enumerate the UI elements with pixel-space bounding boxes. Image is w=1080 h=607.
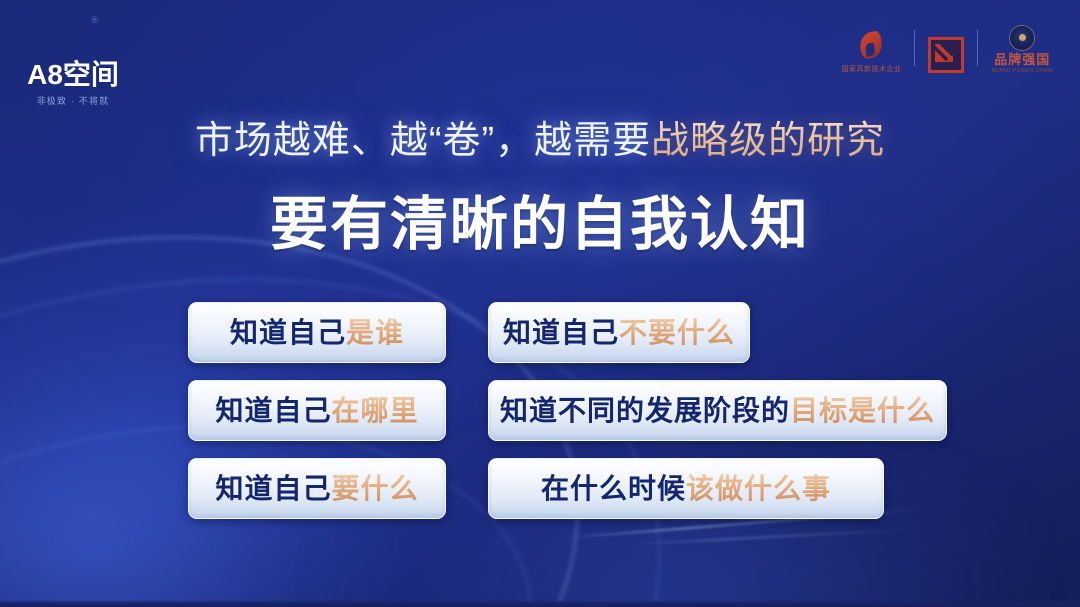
- pen-nib-icon: ®: [58, 18, 88, 58]
- badge-brand-power: 品牌强国 BRAND POWER CHINA: [978, 22, 1066, 74]
- pill-row: 知道自己在哪里 知道不同的发展阶段的目标是什么: [188, 380, 958, 441]
- brand-tagline: 非极致 · 不将就: [14, 94, 132, 107]
- subheadline-highlight: 战略级的研究: [651, 120, 885, 162]
- pill-text-plain: 知道自己: [215, 396, 331, 426]
- flame-icon: [860, 29, 882, 61]
- pill-row: 知道自己要什么 在什么时候该做什么事: [188, 458, 958, 519]
- subheadline-plain: 市场越难、越“卷”，越需要: [195, 120, 651, 162]
- pill-row: 知道自己是谁 知道自己不要什么: [188, 302, 958, 363]
- certification-badges: 国家高新技术企业 品牌强国 BRAND POWER CHINA: [828, 22, 1066, 74]
- badge-red-seal: [915, 22, 977, 74]
- bottom-edge-shadow: [0, 600, 1080, 607]
- pill-text-highlight: 不要什么: [619, 318, 735, 348]
- badge-label: 品牌强国: [994, 53, 1050, 67]
- pill-text-plain: 知道不同的发展阶段的: [500, 396, 790, 426]
- pill-text-plain: 知道自己: [503, 318, 619, 348]
- subheadline: 市场越难、越“卷”，越需要战略级的研究: [0, 116, 1080, 166]
- pill-know-what-you-want[interactable]: 知道自己要什么: [188, 458, 446, 519]
- pill-text-highlight: 在哪里: [332, 396, 419, 426]
- pill-text-highlight: 目标是什么: [790, 396, 935, 426]
- pill-text-plain: 知道自己: [215, 474, 331, 504]
- badge-sublabel: BRAND POWER CHINA: [991, 68, 1053, 74]
- registered-mark-icon: ®: [91, 16, 98, 25]
- pill-text-plain: 在什么时候: [541, 474, 686, 504]
- pill-know-what-you-dont-want[interactable]: 知道自己不要什么: [488, 302, 750, 363]
- red-seal-stamp-icon: [928, 39, 964, 71]
- pill-know-who-you-are[interactable]: 知道自己是谁: [188, 302, 446, 363]
- pill-text-plain: 知道自己: [230, 318, 346, 348]
- pill-know-when-to-act[interactable]: 在什么时候该做什么事: [488, 458, 884, 519]
- pill-text-highlight: 该做什么事: [686, 474, 831, 504]
- page-title: 要有清晰的自我认知: [0, 186, 1080, 264]
- brand-logo: ® A8空间 非极致 · 不将就: [14, 14, 132, 107]
- badge-national-hi-tech: 国家高新技术企业: [828, 22, 914, 74]
- medal-icon: [1010, 22, 1034, 53]
- statement-pill-grid: 知道自己是谁 知道自己不要什么 知道自己在哪里 知道不同的发展阶段的目标是什么 …: [188, 302, 958, 536]
- pill-know-stage-goals[interactable]: 知道不同的发展阶段的目标是什么: [488, 380, 947, 441]
- slide-canvas: ® A8空间 非极致 · 不将就 国家高新技术企业 品牌强国 BRAND POW…: [0, 0, 1080, 607]
- badge-label: 国家高新技术企业: [841, 64, 901, 74]
- brand-name: A8空间: [14, 60, 132, 90]
- pill-know-where-you-are[interactable]: 知道自己在哪里: [188, 380, 446, 441]
- pill-text-highlight: 是谁: [346, 318, 404, 348]
- pill-text-highlight: 要什么: [332, 474, 419, 504]
